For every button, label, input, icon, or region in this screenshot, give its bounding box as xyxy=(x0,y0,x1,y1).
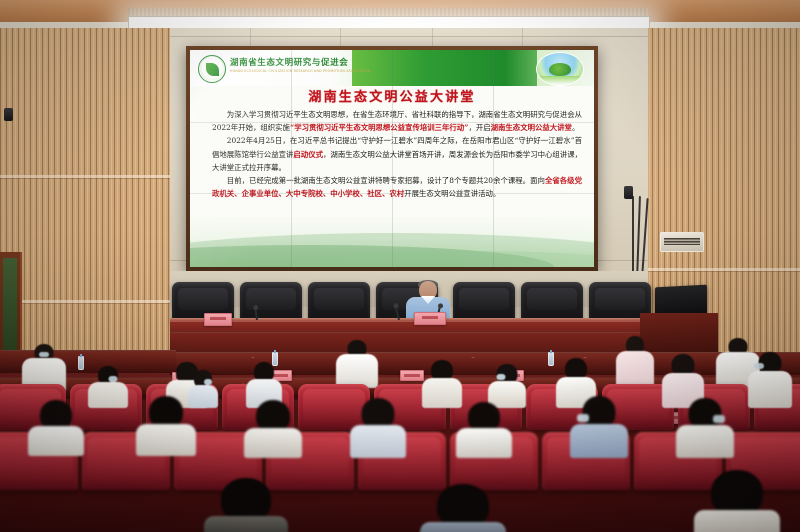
left-wall-trim xyxy=(0,175,178,178)
slide-paragraph: 目前，已经完成第一批湖南生态文明公益宣讲特聘专家招募，设计了8个专题共20余个课… xyxy=(212,174,582,200)
audience-person xyxy=(456,402,512,458)
audience-person xyxy=(422,360,462,408)
slide-text-run: 目前，已经完成第一批湖南生态文明公益宣讲特聘专家招募，设计了8个专题共20余个课… xyxy=(227,176,545,185)
name-placard xyxy=(414,312,446,325)
audience-person xyxy=(244,400,302,458)
water-bottle xyxy=(548,352,554,366)
right-wall-trim xyxy=(640,268,800,271)
slide-text-run: ，开启 xyxy=(468,123,490,132)
audience-person xyxy=(570,396,628,458)
audience-person xyxy=(616,336,654,388)
green-tree-globe-icon xyxy=(536,52,584,86)
audience-person xyxy=(420,484,506,532)
left-wall-trim-lower xyxy=(0,300,178,303)
audience-person xyxy=(136,396,196,456)
audience-person xyxy=(350,398,406,458)
slide-paragraph: 2022年4月25日，在习近平总书记提出“守护好一江碧水”四周年之际，在岳阳市君… xyxy=(212,134,582,174)
conference-hall-photo: 湖南省生态文明研究与促进会 HUNAN ECOLOGICAL CIVILIZAT… xyxy=(0,0,800,532)
audience-person xyxy=(676,398,734,458)
audience-person xyxy=(694,470,780,532)
audience-person xyxy=(748,352,792,408)
audience-person xyxy=(88,366,128,408)
audience-person xyxy=(204,478,288,532)
slide-text-run: 。 xyxy=(572,123,579,132)
slide-highlight-run: 湖南生态文明公益大讲堂 xyxy=(491,123,572,132)
presentation-slide: 湖南省生态文明研究与促进会 HUNAN ECOLOGICAL CIVILIZAT… xyxy=(190,50,594,267)
name-placard xyxy=(400,370,424,381)
ceiling-speaker-left xyxy=(4,108,13,121)
water-bottle xyxy=(78,356,84,370)
name-placard xyxy=(204,313,232,326)
led-video-wall: 湖南省生态文明研究与促进会 HUNAN ECOLOGICAL CIVILIZAT… xyxy=(186,46,598,271)
slide-highlight-run: 启动仪式 xyxy=(293,150,323,159)
audience-person xyxy=(28,400,84,456)
audience-person xyxy=(336,340,378,388)
leaf-emblem-icon xyxy=(198,55,226,83)
wall-air-vent xyxy=(660,232,704,252)
slide-highlight-run: “学习贯彻习近平生态文明思想公益宣传培训三年行动” xyxy=(290,123,469,132)
